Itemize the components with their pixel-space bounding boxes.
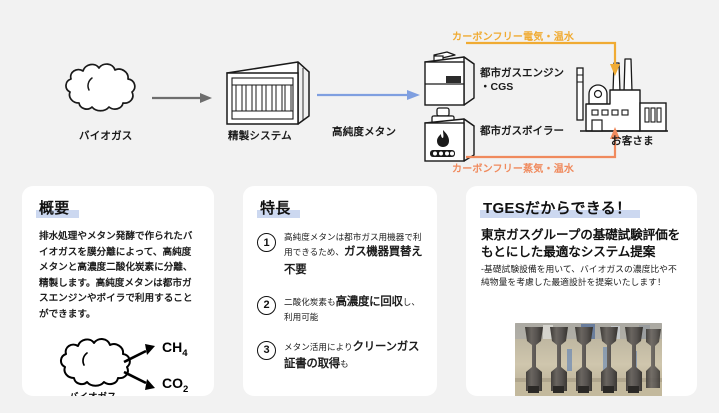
flow-diagram-svg <box>0 0 719 180</box>
overview-heading: 概要 <box>39 200 70 217</box>
feature-item-3: 3 メタン活用によりクリーンガス証書の取得も <box>257 338 425 374</box>
feature-number-3: 3 <box>257 341 276 360</box>
features-heading: 特長 <box>260 200 291 217</box>
feature-emphasis-2: 高濃度に回収 <box>336 296 403 308</box>
feature-lead-3: メタン活用により <box>284 342 353 352</box>
feature-tail-3: も <box>340 359 349 369</box>
membrane-module-test-rack-photo <box>515 323 662 396</box>
flow-label-biogas: バイオガス <box>79 128 133 143</box>
feature-item-1: 1 高純度メタンは都市ガス用機器で利用できるため、ガス機器買替え不要 <box>257 230 425 280</box>
slide-root: バイオガス 精製システム 高純度メタン 都市ガスエンジン・CGS 都市ガスボイラ… <box>0 0 719 413</box>
card-overview: 概要 排水処理やメタン発酵で作られたバイオガスを膜分離によって、高純度メタンと高… <box>22 186 214 396</box>
flow-label-gas-engine-cgs: 都市ガスエンジン・CGS <box>480 66 564 94</box>
features-list: 1 高純度メタンは都市ガス用機器で利用できるため、ガス機器買替え不要 2 二酸化… <box>243 230 437 374</box>
feature-number-2: 2 <box>257 296 276 315</box>
tges-subtext: -基礎試験設備を用いて、バイオガスの濃度比や不純物量を考慮した最適設計を提案いた… <box>481 263 683 289</box>
tges-headline: 東京ガスグループの基礎試験評価をもとにした最適なシステム提案 <box>481 227 683 262</box>
tges-heading-wrap: TGESだからできる！ <box>466 186 697 218</box>
refining-system-icon <box>227 62 309 124</box>
gas-engine-icon <box>425 52 474 105</box>
feature-text-1: 高純度メタンは都市ガス用機器で利用できるため、ガス機器買替え不要 <box>284 230 425 280</box>
flow-label-customer: お客さま <box>611 133 654 148</box>
feature-text-3: メタン活用によりクリーンガス証書の取得も <box>284 338 425 374</box>
cloud-icon <box>61 339 130 386</box>
arrow-to-co2 <box>124 372 155 390</box>
arrow-refining-to-equipment <box>317 90 420 100</box>
card-tges: TGESだからできる！ 東京ガスグループの基礎試験評価をもとにした最適なシステム… <box>466 186 697 396</box>
flow-label-high-purity-methane: 高純度メタン <box>332 124 396 139</box>
chem-label-ch4: CH4 <box>162 339 188 359</box>
route-label-steam: カーボンフリー蒸気・温水 <box>452 160 574 175</box>
overview-figure: CH4 CO2 バイオガス <box>22 330 214 396</box>
feature-lead-2: 二酸化炭素も <box>284 297 336 307</box>
factory-icon <box>577 59 668 131</box>
route-label-electricity: カーボンフリー電気・温水 <box>452 28 574 43</box>
feature-text-2: 二酸化炭素も高濃度に回収し、利用可能 <box>284 293 425 325</box>
overview-heading-wrap: 概要 <box>22 186 214 218</box>
cloud-icon <box>66 64 135 111</box>
arrow-biogas-to-refining <box>152 93 212 103</box>
flow-label-refining-system: 精製システム <box>228 128 292 143</box>
tges-heading: TGESだからできる！ <box>483 200 631 217</box>
gas-boiler-icon <box>425 108 474 161</box>
process-flow-diagram: バイオガス 精製システム 高純度メタン 都市ガスエンジン・CGS 都市ガスボイラ… <box>0 0 719 180</box>
overview-figure-source-label: バイオガス <box>69 389 117 396</box>
card-features: 特長 1 高純度メタンは都市ガス用機器で利用できるため、ガス機器買替え不要 2 … <box>243 186 437 396</box>
feature-item-2: 2 二酸化炭素も高濃度に回収し、利用可能 <box>257 293 425 325</box>
arrow-to-ch4 <box>124 344 155 362</box>
photo-content <box>515 323 662 396</box>
overview-body-text: 排水処理やメタン発酵で作られたバイオガスを膜分離によって、高純度メタンと高濃度二… <box>39 229 198 322</box>
feature-number-1: 1 <box>257 233 276 252</box>
chem-label-co2: CO2 <box>162 375 188 395</box>
flow-label-gas-boiler: 都市ガスボイラー <box>480 124 564 138</box>
features-heading-wrap: 特長 <box>243 186 437 218</box>
